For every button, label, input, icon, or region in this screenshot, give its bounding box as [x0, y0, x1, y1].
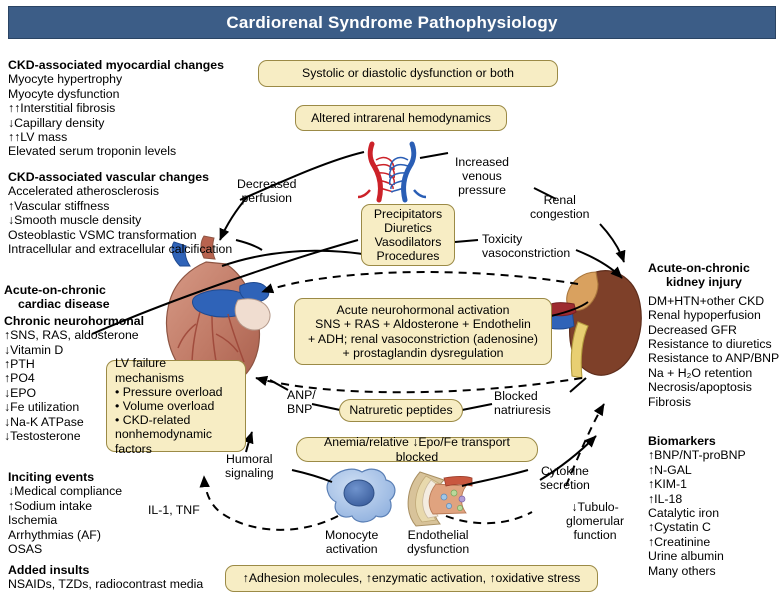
- precipitators-item: Vasodilators: [375, 235, 442, 249]
- increased-venous-pressure-label: Increased venous pressure: [455, 155, 509, 198]
- added-insults-block: Added insults NSAIDs, TZDs, radiocontras…: [8, 563, 203, 592]
- biomarker-item: ↑Cystatin C: [648, 520, 746, 534]
- decreased-perfusion-label: Decreased perfusion: [237, 177, 296, 205]
- cardiac-disease-heading-line1: Acute-on-chronic: [4, 283, 144, 297]
- cardiac-disease-heading-line2: cardiac disease: [4, 297, 144, 311]
- tubulo-line1: ↓Tubulo-: [566, 500, 624, 514]
- precipitators-heading: Precipitators: [374, 207, 442, 221]
- decreased-perfusion-line1: Decreased: [237, 177, 296, 191]
- endothelium-cross-section-illustration: [408, 472, 472, 526]
- blocked-natriuresis-line2: natriuresis: [494, 403, 551, 417]
- cytokine-line1: Cytokine: [540, 464, 590, 478]
- biomarker-item: ↑N-GAL: [648, 463, 746, 477]
- monocyte-illustration: [327, 469, 395, 522]
- anp-bnp-line1: ANP/: [287, 388, 316, 402]
- endothelial-line2: dysfunction: [407, 542, 469, 556]
- monocyte-activation-label: Monocyte activation: [325, 528, 378, 556]
- systolic-dysfunction-label: Systolic or diastolic dysfunction or bot…: [302, 66, 514, 80]
- precipitators-item: Procedures: [377, 249, 440, 263]
- inciting-events-block: Inciting events ↓Medical compliance ↑Sod…: [8, 470, 122, 556]
- ckd-vascular-item: ↓Smooth muscle density: [8, 213, 232, 227]
- acute-neurohormonal-line: + ADH; renal vasoconstriction (adenosine…: [308, 332, 538, 346]
- kidney-injury-item: Renal hypoperfusion: [648, 308, 779, 322]
- ckd-myocardial-item: ↑↑Interstitial fibrosis: [8, 101, 224, 115]
- kidney-illustration: [544, 271, 641, 378]
- tubulo-line3: function: [566, 528, 624, 542]
- kidney-injury-item: Fibrosis: [648, 395, 779, 409]
- ckd-vascular-item: Accelerated atherosclerosis: [8, 184, 232, 198]
- endothelial-line1: Endothelial: [407, 528, 469, 542]
- ckd-myocardial-item: ↓Capillary density: [8, 116, 224, 130]
- kidney-injury-item: Resistance to ANP/BNP: [648, 351, 779, 365]
- blocked-natriuresis-line1: Blocked: [494, 389, 551, 403]
- altered-intrarenal-hemodynamics-box[interactable]: Altered intrarenal hemodynamics: [295, 105, 507, 131]
- systolic-diastolic-dysfunction-box[interactable]: Systolic or diastolic dysfunction or bot…: [258, 60, 558, 87]
- altered-hemodynamics-label: Altered intrarenal hemodynamics: [311, 111, 491, 125]
- increased-venous-line2: venous: [455, 169, 509, 183]
- toxicity-vasoconstriction-label: Toxicity vasoconstriction: [482, 232, 570, 260]
- increased-venous-line1: Increased: [455, 155, 509, 169]
- acute-neurohormonal-heading: Acute neurohormonal activation: [337, 303, 510, 317]
- ckd-vascular-item: Intracellular and extracellular calcific…: [8, 242, 232, 256]
- ckd-vascular-heading: CKD-associated vascular changes: [8, 170, 232, 184]
- precipitators-box[interactable]: Precipitators Diuretics Vasodilators Pro…: [361, 204, 455, 266]
- kidney-injury-heading-line1: Acute-on-chronic: [648, 261, 779, 275]
- acute-neurohormonal-activation-box[interactable]: Acute neurohormonal activation SNS + RAS…: [294, 298, 552, 365]
- chronic-neurohormonal-item: ↑SNS, RAS, aldosterone: [4, 328, 144, 342]
- kidney-injury-heading-line2: kidney injury: [648, 275, 779, 289]
- lv-failure-item: • Pressure overload: [115, 385, 223, 399]
- inciting-events-heading: Inciting events: [8, 470, 122, 484]
- monocyte-line2: activation: [325, 542, 378, 556]
- anemia-epo-fe-box[interactable]: Anemia/relative ↓Epo/Fe transport blocke…: [296, 437, 538, 462]
- cytokine-line2: secretion: [540, 478, 590, 492]
- ckd-vascular-item: ↑Vascular stiffness: [8, 199, 232, 213]
- lv-failure-item: • Volume overload: [115, 399, 214, 413]
- adhesion-molecules-box[interactable]: ↑Adhesion molecules, ↑enzymatic activati…: [225, 565, 598, 592]
- chronic-neurohormonal-item: ↓Vitamin D: [4, 343, 144, 357]
- biomarker-item: ↑Creatinine: [648, 535, 746, 549]
- lv-failure-item: • CKD-related: [115, 413, 190, 427]
- anp-bnp-line2: BNP: [287, 402, 316, 416]
- blocked-natriuresis-label: Blocked natriuresis: [494, 389, 551, 417]
- humoral-line2: signaling: [225, 466, 274, 480]
- biomarker-item: Catalytic iron: [648, 506, 746, 520]
- increased-venous-line3: pressure: [455, 183, 509, 197]
- natruretic-peptides-label: Natruretic peptides: [349, 403, 452, 417]
- kidney-injury-item: Necrosis/apoptosis: [648, 380, 779, 394]
- added-insults-heading: Added insults: [8, 563, 203, 577]
- adhesion-label: ↑Adhesion molecules, ↑enzymatic activati…: [243, 571, 581, 585]
- kidney-injury-item: Decreased GFR: [648, 323, 779, 337]
- lv-failure-heading: LV failure mechanisms: [115, 356, 237, 384]
- anp-bnp-label: ANP/ BNP: [287, 388, 316, 416]
- biomarkers-block: Biomarkers ↑BNP/NT-proBNP ↑N-GAL ↑KIM-1 …: [648, 434, 746, 578]
- inciting-events-item: Arrhythmias (AF): [8, 528, 122, 542]
- tubuloglomerular-function-label: ↓Tubulo- glomerular function: [566, 500, 624, 543]
- biomarker-item: Urine albumin: [648, 549, 746, 563]
- lv-failure-item: factors: [115, 442, 152, 456]
- acute-on-chronic-kidney-injury-block: Acute-on-chronic kidney injury DM+HTN+ot…: [648, 261, 779, 409]
- endothelial-dysfunction-label: Endothelial dysfunction: [407, 528, 469, 556]
- anemia-label: Anemia/relative ↓Epo/Fe transport blocke…: [305, 435, 529, 463]
- biomarker-item: ↑IL-18: [648, 492, 746, 506]
- humoral-line1: Humoral: [225, 452, 274, 466]
- chronic-neurohormonal-subheading: Chronic neurohormonal: [4, 314, 144, 328]
- ckd-myocardial-item: ↑↑LV mass: [8, 130, 224, 144]
- inciting-events-item: ↓Medical compliance: [8, 484, 122, 498]
- ckd-myocardial-changes-block: CKD-associated myocardial changes Myocyt…: [8, 58, 224, 159]
- cytokine-secretion-label: Cytokine secretion: [540, 464, 590, 492]
- renal-congestion-label: Renal congestion: [530, 193, 589, 221]
- biomarker-item: ↑BNP/NT-proBNP: [648, 448, 746, 462]
- ckd-myocardial-heading: CKD-associated myocardial changes: [8, 58, 224, 72]
- ckd-myocardial-item: Myocyte hypertrophy: [8, 72, 224, 86]
- ckd-myocardial-item: Elevated serum troponin levels: [8, 144, 224, 158]
- decreased-perfusion-line2: perfusion: [237, 191, 296, 205]
- natruretic-peptides-box[interactable]: Natruretic peptides: [339, 399, 463, 422]
- precipitators-item: Diuretics: [384, 221, 432, 235]
- monocyte-line1: Monocyte: [325, 528, 378, 542]
- renal-congestion-line2: congestion: [530, 207, 589, 221]
- biomarker-item: ↑KIM-1: [648, 477, 746, 491]
- diagram-title-bar: Cardiorenal Syndrome Pathophysiology: [8, 6, 776, 39]
- page-title: Cardiorenal Syndrome Pathophysiology: [226, 13, 557, 33]
- tubulo-line2: glomerular: [566, 514, 624, 528]
- biomarkers-heading: Biomarkers: [648, 434, 746, 448]
- biomarker-item: Many others: [648, 564, 746, 578]
- kidney-injury-item: Resistance to diuretics: [648, 337, 779, 351]
- kidney-injury-item: Na + H₂O retention: [648, 366, 779, 380]
- diagram-canvas: Cardiorenal Syndrome Pathophysiology: [0, 0, 784, 598]
- inciting-events-item: OSAS: [8, 542, 122, 556]
- il1-tnf-text: IL-1, TNF: [148, 503, 200, 517]
- renal-congestion-line1: Renal: [530, 193, 589, 207]
- inciting-events-item: ↑Sodium intake: [8, 499, 122, 513]
- kidney-injury-item: DM+HTN+other CKD: [648, 294, 779, 308]
- inciting-events-item: Ischemia: [8, 513, 122, 527]
- lv-failure-mechanisms-box[interactable]: LV failure mechanisms • Pressure overloa…: [106, 360, 246, 452]
- ckd-myocardial-item: Myocyte dysfunction: [8, 87, 224, 101]
- capillary-bed-illustration: [358, 144, 426, 200]
- ckd-vascular-changes-block: CKD-associated vascular changes Accelera…: [8, 170, 232, 256]
- il1-tnf-label: IL-1, TNF: [148, 503, 200, 517]
- acute-neurohormonal-line: + prostaglandin dysregulation: [343, 346, 504, 360]
- toxicity-line2: vasoconstriction: [482, 246, 570, 260]
- lv-failure-item: nonhemodynamic: [115, 427, 212, 441]
- added-insults-item: NSAIDs, TZDs, radiocontrast media: [8, 577, 203, 591]
- acute-neurohormonal-line: SNS + RAS + Aldosterone + Endothelin: [315, 317, 531, 331]
- ckd-vascular-item: Osteoblastic VSMC transformation: [8, 228, 232, 242]
- humoral-signaling-label: Humoral signaling: [225, 452, 274, 480]
- toxicity-line1: Toxicity: [482, 232, 570, 246]
